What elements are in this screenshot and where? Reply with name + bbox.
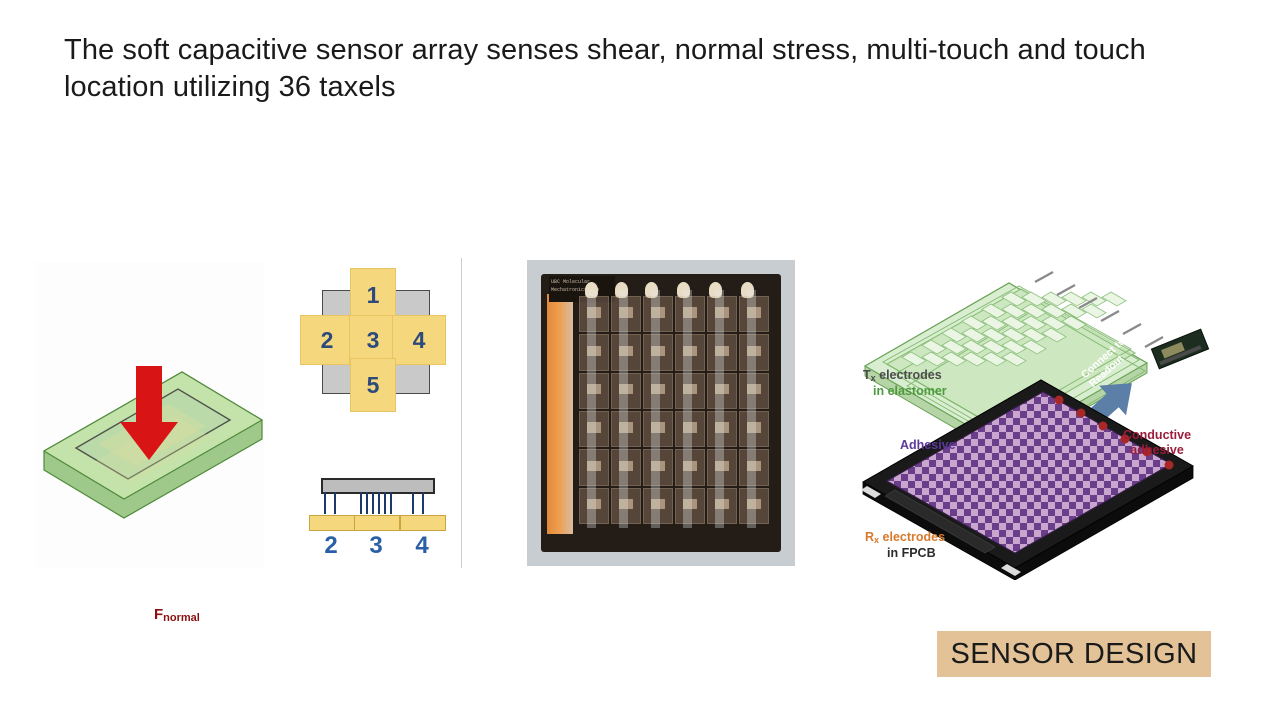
taxel-pad-2: 2: [300, 315, 354, 365]
conductive-adhesive-label: Conductiveadhesive: [1123, 428, 1191, 458]
field-line: [334, 492, 336, 514]
rx-electrodes-label: Rx electrodesin FPCB: [865, 530, 945, 561]
photo-elastomer-strip: [683, 290, 692, 528]
taxel-pad-4: 4: [392, 315, 446, 365]
cross-section-pad-4: [400, 515, 446, 531]
cross-section-label-4: 4: [400, 532, 444, 560]
slide-canvas: The soft capacitive sensor array senses …: [0, 0, 1280, 720]
section-banner-label: SENSOR DESIGN: [951, 638, 1198, 671]
panel-divider: [461, 258, 462, 568]
photo-elastomer-strip: [587, 290, 596, 528]
sensor-array-photo: UBC Molecular Mechatronics Lab: [527, 260, 795, 566]
cross-section-pad-2: [309, 515, 355, 531]
field-line: [422, 492, 424, 514]
photo-elastomer-strip: [747, 290, 756, 528]
exploded-stack-panel: Tx electrodesin elastomer Adhesive Condu…: [845, 250, 1255, 580]
taxel-layout-diagram: 1 2 3 4 5: [300, 268, 450, 418]
photo-elastomer-strip: [715, 290, 724, 528]
force-normal-label: Fnormal: [154, 606, 200, 623]
field-line: [372, 492, 374, 514]
section-banner: SENSOR DESIGN: [937, 631, 1211, 677]
adhesive-label: Adhesive: [900, 438, 956, 453]
tx-electrodes-label: Tx electrodesin elastomer: [863, 368, 947, 399]
cross-section-label-2: 2: [309, 532, 353, 560]
cross-section-pad-3: [354, 515, 400, 531]
taxel-pad-5: 5: [350, 358, 396, 412]
field-line: [384, 492, 386, 514]
field-line: [324, 492, 326, 514]
taxel-pad-1: 1: [350, 268, 396, 322]
photo-elastomer-strip: [651, 290, 660, 528]
photo-flex-connector: [547, 294, 573, 534]
normal-force-panel: Fnormal: [36, 262, 264, 568]
field-line: [412, 492, 414, 514]
field-line: [390, 492, 392, 514]
taxel-cross-section-diagram: 2 3 4: [300, 470, 450, 568]
photo-taxel-grid: [579, 296, 769, 524]
page-title: The soft capacitive sensor array senses …: [64, 32, 1224, 106]
normal-force-illustration: [36, 262, 264, 568]
cross-section-label-3: 3: [354, 532, 398, 560]
field-line: [378, 492, 380, 514]
field-line: [366, 492, 368, 514]
field-line: [360, 492, 362, 514]
photo-elastomer-strip: [619, 290, 628, 528]
